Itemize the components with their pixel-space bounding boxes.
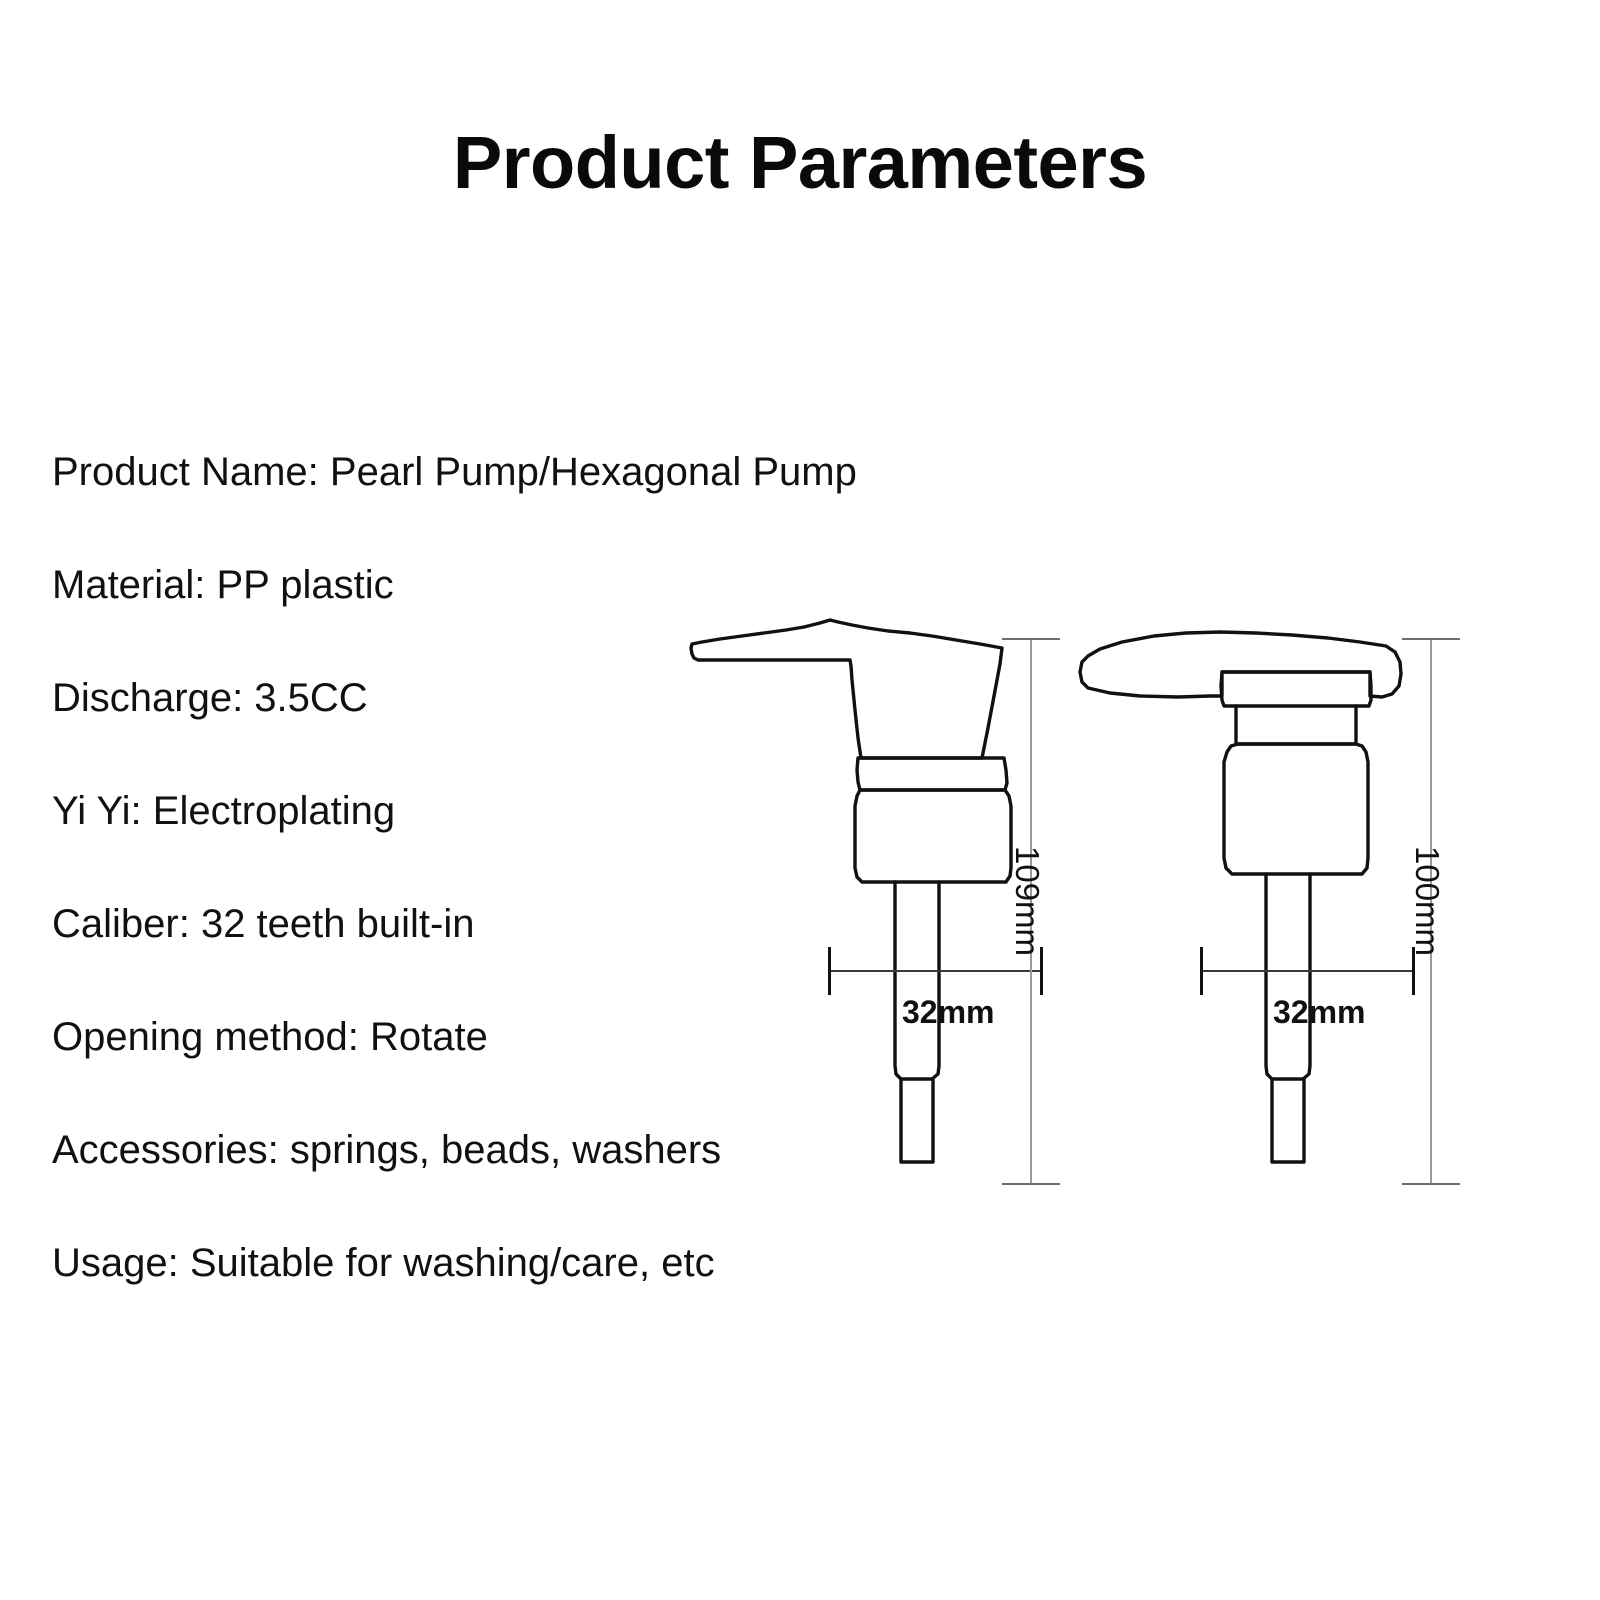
spec-item-product-name: Product Name: Pearl Pump/Hexagonal Pump xyxy=(52,452,972,565)
height-dimension-label: 100mm xyxy=(1411,846,1444,956)
caliber-tick-left xyxy=(1200,947,1203,995)
height-tick-top xyxy=(1002,638,1060,640)
hexagonal-pump-figure: 32mm xyxy=(1070,600,1430,1205)
caliber-tick-left xyxy=(828,947,831,995)
caliber-dimension-line xyxy=(1200,970,1415,972)
spec-item-usage: Usage: Suitable for washing/care, etc xyxy=(52,1243,972,1356)
height-tick-top xyxy=(1402,638,1460,640)
page-title: Product Parameters xyxy=(0,126,1600,200)
height-tick-bottom xyxy=(1402,1183,1460,1185)
height-dimension-label: 109mm xyxy=(1011,846,1044,956)
caliber-dimension-label: 32mm xyxy=(902,996,995,1028)
product-parameters-page: Product Parameters Product Name: Pearl P… xyxy=(0,0,1600,1600)
caliber-dimension-label: 32mm xyxy=(1273,996,1366,1028)
pearl-pump-figure: 32mm xyxy=(680,600,1040,1205)
caliber-dimension-right: 32mm xyxy=(1070,600,1430,1200)
caliber-dimension-left: 32mm xyxy=(680,600,1040,1200)
product-drawings: 32mm 109mm xyxy=(660,600,1540,1220)
caliber-dimension-line xyxy=(828,970,1043,972)
height-tick-bottom xyxy=(1002,1183,1060,1185)
